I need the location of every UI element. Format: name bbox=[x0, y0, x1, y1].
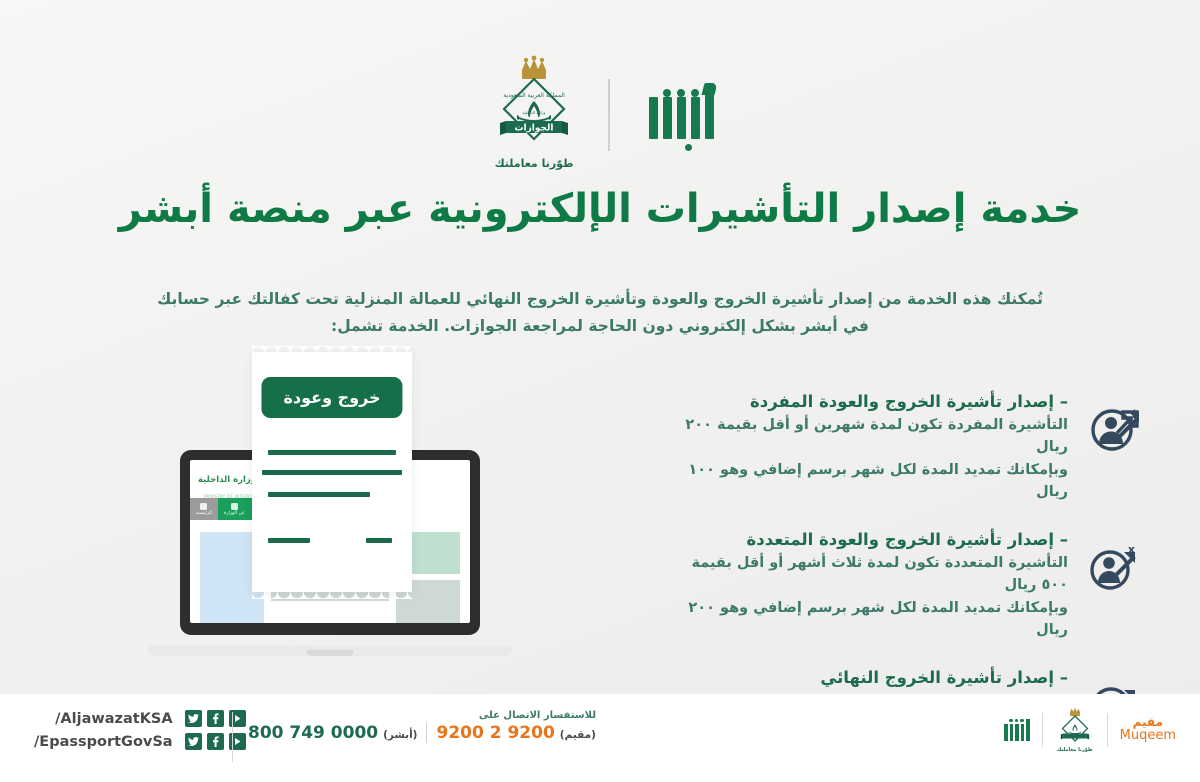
moi-logo-text: وزارة الداخلية MINISTRY OF INTERIOR bbox=[198, 469, 256, 501]
intro-line-2: في أبشر بشكل إلكتروني دون الحاجة لمراجعة… bbox=[130, 313, 1070, 340]
contact-number-absher-value[interactable]: 800 749 0000 bbox=[248, 723, 378, 743]
building-icon bbox=[231, 503, 238, 510]
facebook-icon[interactable] bbox=[207, 733, 224, 750]
list-item-body-line-2: وبإمكانك تمديد المدة لكل شهر برسم إضافي … bbox=[660, 459, 1068, 504]
nav-tab-about[interactable]: عن الوزارة bbox=[218, 498, 251, 520]
footer-logo-divider bbox=[1107, 713, 1108, 747]
social-handle-epassport[interactable]: /EpassportGovSa bbox=[34, 734, 173, 750]
moi-logo-ar: وزارة الداخلية bbox=[198, 475, 256, 485]
person-exit-arrow-icon-svg bbox=[1090, 406, 1140, 452]
logo-divider bbox=[608, 79, 610, 151]
receipt-line bbox=[366, 538, 392, 543]
list-item-title: – إصدار تأشيرة الخروج والعودة المتعددة bbox=[660, 530, 1068, 549]
page-title: خدمة إصدار التأشيرات الإلكترونية عبر منص… bbox=[0, 186, 1200, 232]
person-exit-arrow-multiple-icon: x bbox=[1084, 530, 1140, 594]
social-handle-aljawazat[interactable]: /AljawazatKSA bbox=[55, 711, 172, 727]
jawazat-tagline: طوّرنا معاملتك bbox=[495, 157, 574, 170]
footer: /AljawazatKSA /EpassportGovSa للاستفسار … bbox=[0, 694, 1200, 782]
footer-logos: طوّرنا معاملتك مقيم Muqeem bbox=[1000, 706, 1176, 753]
twitter-icon[interactable] bbox=[185, 710, 202, 727]
contact-label: للاستفسار الاتصال على bbox=[248, 710, 596, 721]
infographic-poster: المملكة العربية السعودية وزارة الداخلية … bbox=[0, 0, 1200, 782]
twitter-icon[interactable] bbox=[185, 733, 202, 750]
receipt-badge: خروج وعودة bbox=[261, 377, 402, 418]
contact-number-muqeem: 9200 2 9200 (مقيم) bbox=[436, 723, 595, 743]
receipt-line bbox=[262, 470, 402, 475]
footer-divider bbox=[232, 712, 233, 762]
footer-absher-logo bbox=[1000, 717, 1030, 743]
social-row-epassport: /EpassportGovSa bbox=[34, 733, 246, 750]
list-item-body-line-2: وبإمكانك تمديد المدة لكل شهر برسم إضافي … bbox=[660, 597, 1068, 642]
multiplier-label: x bbox=[1128, 544, 1135, 556]
list-item: – إصدار تأشيرة الخروج والعودة المفردة ال… bbox=[660, 392, 1140, 504]
contact-number-muqeem-tag: (مقيم) bbox=[560, 729, 596, 741]
facebook-icon[interactable] bbox=[207, 710, 224, 727]
contact-number-muqeem-value[interactable]: 9200 2 9200 bbox=[436, 723, 554, 743]
header-logos: المملكة العربية السعودية وزارة الداخلية … bbox=[0, 55, 1200, 170]
home-icon bbox=[200, 503, 207, 510]
contact-number-absher-tag: (أبشر) bbox=[383, 729, 417, 741]
svg-text:الجوازات: الجوازات bbox=[515, 124, 554, 134]
contact-number-divider bbox=[426, 723, 427, 743]
social-links: /AljawazatKSA /EpassportGovSa bbox=[34, 710, 246, 756]
visa-receipt: خروج وعودة bbox=[252, 352, 412, 592]
intro-line-1: تُمكنك هذه الخدمة من إصدار تأشيرة الخروج… bbox=[130, 286, 1070, 313]
list-item-text: – إصدار تأشيرة الخروج والعودة المتعددة ا… bbox=[660, 530, 1068, 642]
footer-jawazat-emblem-svg bbox=[1055, 706, 1095, 746]
muqeem-logo-en: Muqeem bbox=[1120, 729, 1176, 743]
nav-tab-about-label: عن الوزارة bbox=[224, 511, 245, 516]
footer-jawazat-tagline: طوّرنا معاملتك bbox=[1057, 747, 1093, 753]
list-item-title: – إصدار تأشيرة الخروج والعودة المفردة bbox=[660, 392, 1068, 411]
list-item-text: – إصدار تأشيرة الخروج والعودة المفردة ال… bbox=[660, 392, 1068, 504]
contact-info: للاستفسار الاتصال على 800 749 0000 (أبشر… bbox=[248, 710, 596, 743]
person-exit-arrow-icon bbox=[1084, 392, 1140, 456]
nav-tab-home-label: الرئيسية bbox=[196, 511, 212, 516]
list-item-body-line-1: التأشيرة المتعددة تكون لمدة ثلاث أشهر أو… bbox=[660, 552, 1068, 597]
nav-tab-home[interactable]: الرئيسية bbox=[190, 498, 218, 520]
contact-number-absher: 800 749 0000 (أبشر) bbox=[248, 723, 417, 743]
list-item-body-line-1: التأشيرة المفردة تكون لمدة شهرين أو أقل … bbox=[660, 414, 1068, 459]
social-row-aljawazat: /AljawazatKSA bbox=[34, 710, 246, 727]
svg-text:المملكة العربية السعودية: المملكة العربية السعودية bbox=[503, 92, 565, 99]
absher-logo-mark bbox=[636, 83, 714, 145]
receipt-line bbox=[268, 492, 370, 497]
person-exit-arrow-multiple-icon-svg: x bbox=[1090, 544, 1140, 590]
receipt-line bbox=[268, 450, 396, 455]
jawazat-emblem: المملكة العربية السعودية وزارة الداخلية … bbox=[486, 55, 582, 170]
muqeem-logo: مقيم Muqeem bbox=[1120, 716, 1176, 742]
jawazat-emblem-svg: المملكة العربية السعودية وزارة الداخلية … bbox=[486, 55, 582, 151]
contact-numbers: 800 749 0000 (أبشر) 9200 2 9200 (مقيم) bbox=[248, 723, 596, 743]
laptop-illustration: وزارة الداخلية MINISTRY OF INTERIOR الرئ… bbox=[140, 352, 550, 652]
laptop-notch bbox=[307, 650, 353, 656]
intro-paragraph: تُمكنك هذه الخدمة من إصدار تأشيرة الخروج… bbox=[130, 286, 1070, 340]
svg-text:وزارة الداخلية: وزارة الداخلية bbox=[523, 110, 546, 115]
footer-logo-divider bbox=[1042, 713, 1043, 747]
list-item-title: – إصدار تأشيرة الخروج النهائي bbox=[660, 668, 1068, 687]
receipt-line bbox=[268, 538, 310, 543]
absher-logo bbox=[636, 55, 714, 145]
footer-jawazat-emblem: طوّرنا معاملتك bbox=[1055, 706, 1095, 753]
list-item: x – إصدار تأشيرة الخروج والعودة المتعددة… bbox=[660, 530, 1140, 642]
